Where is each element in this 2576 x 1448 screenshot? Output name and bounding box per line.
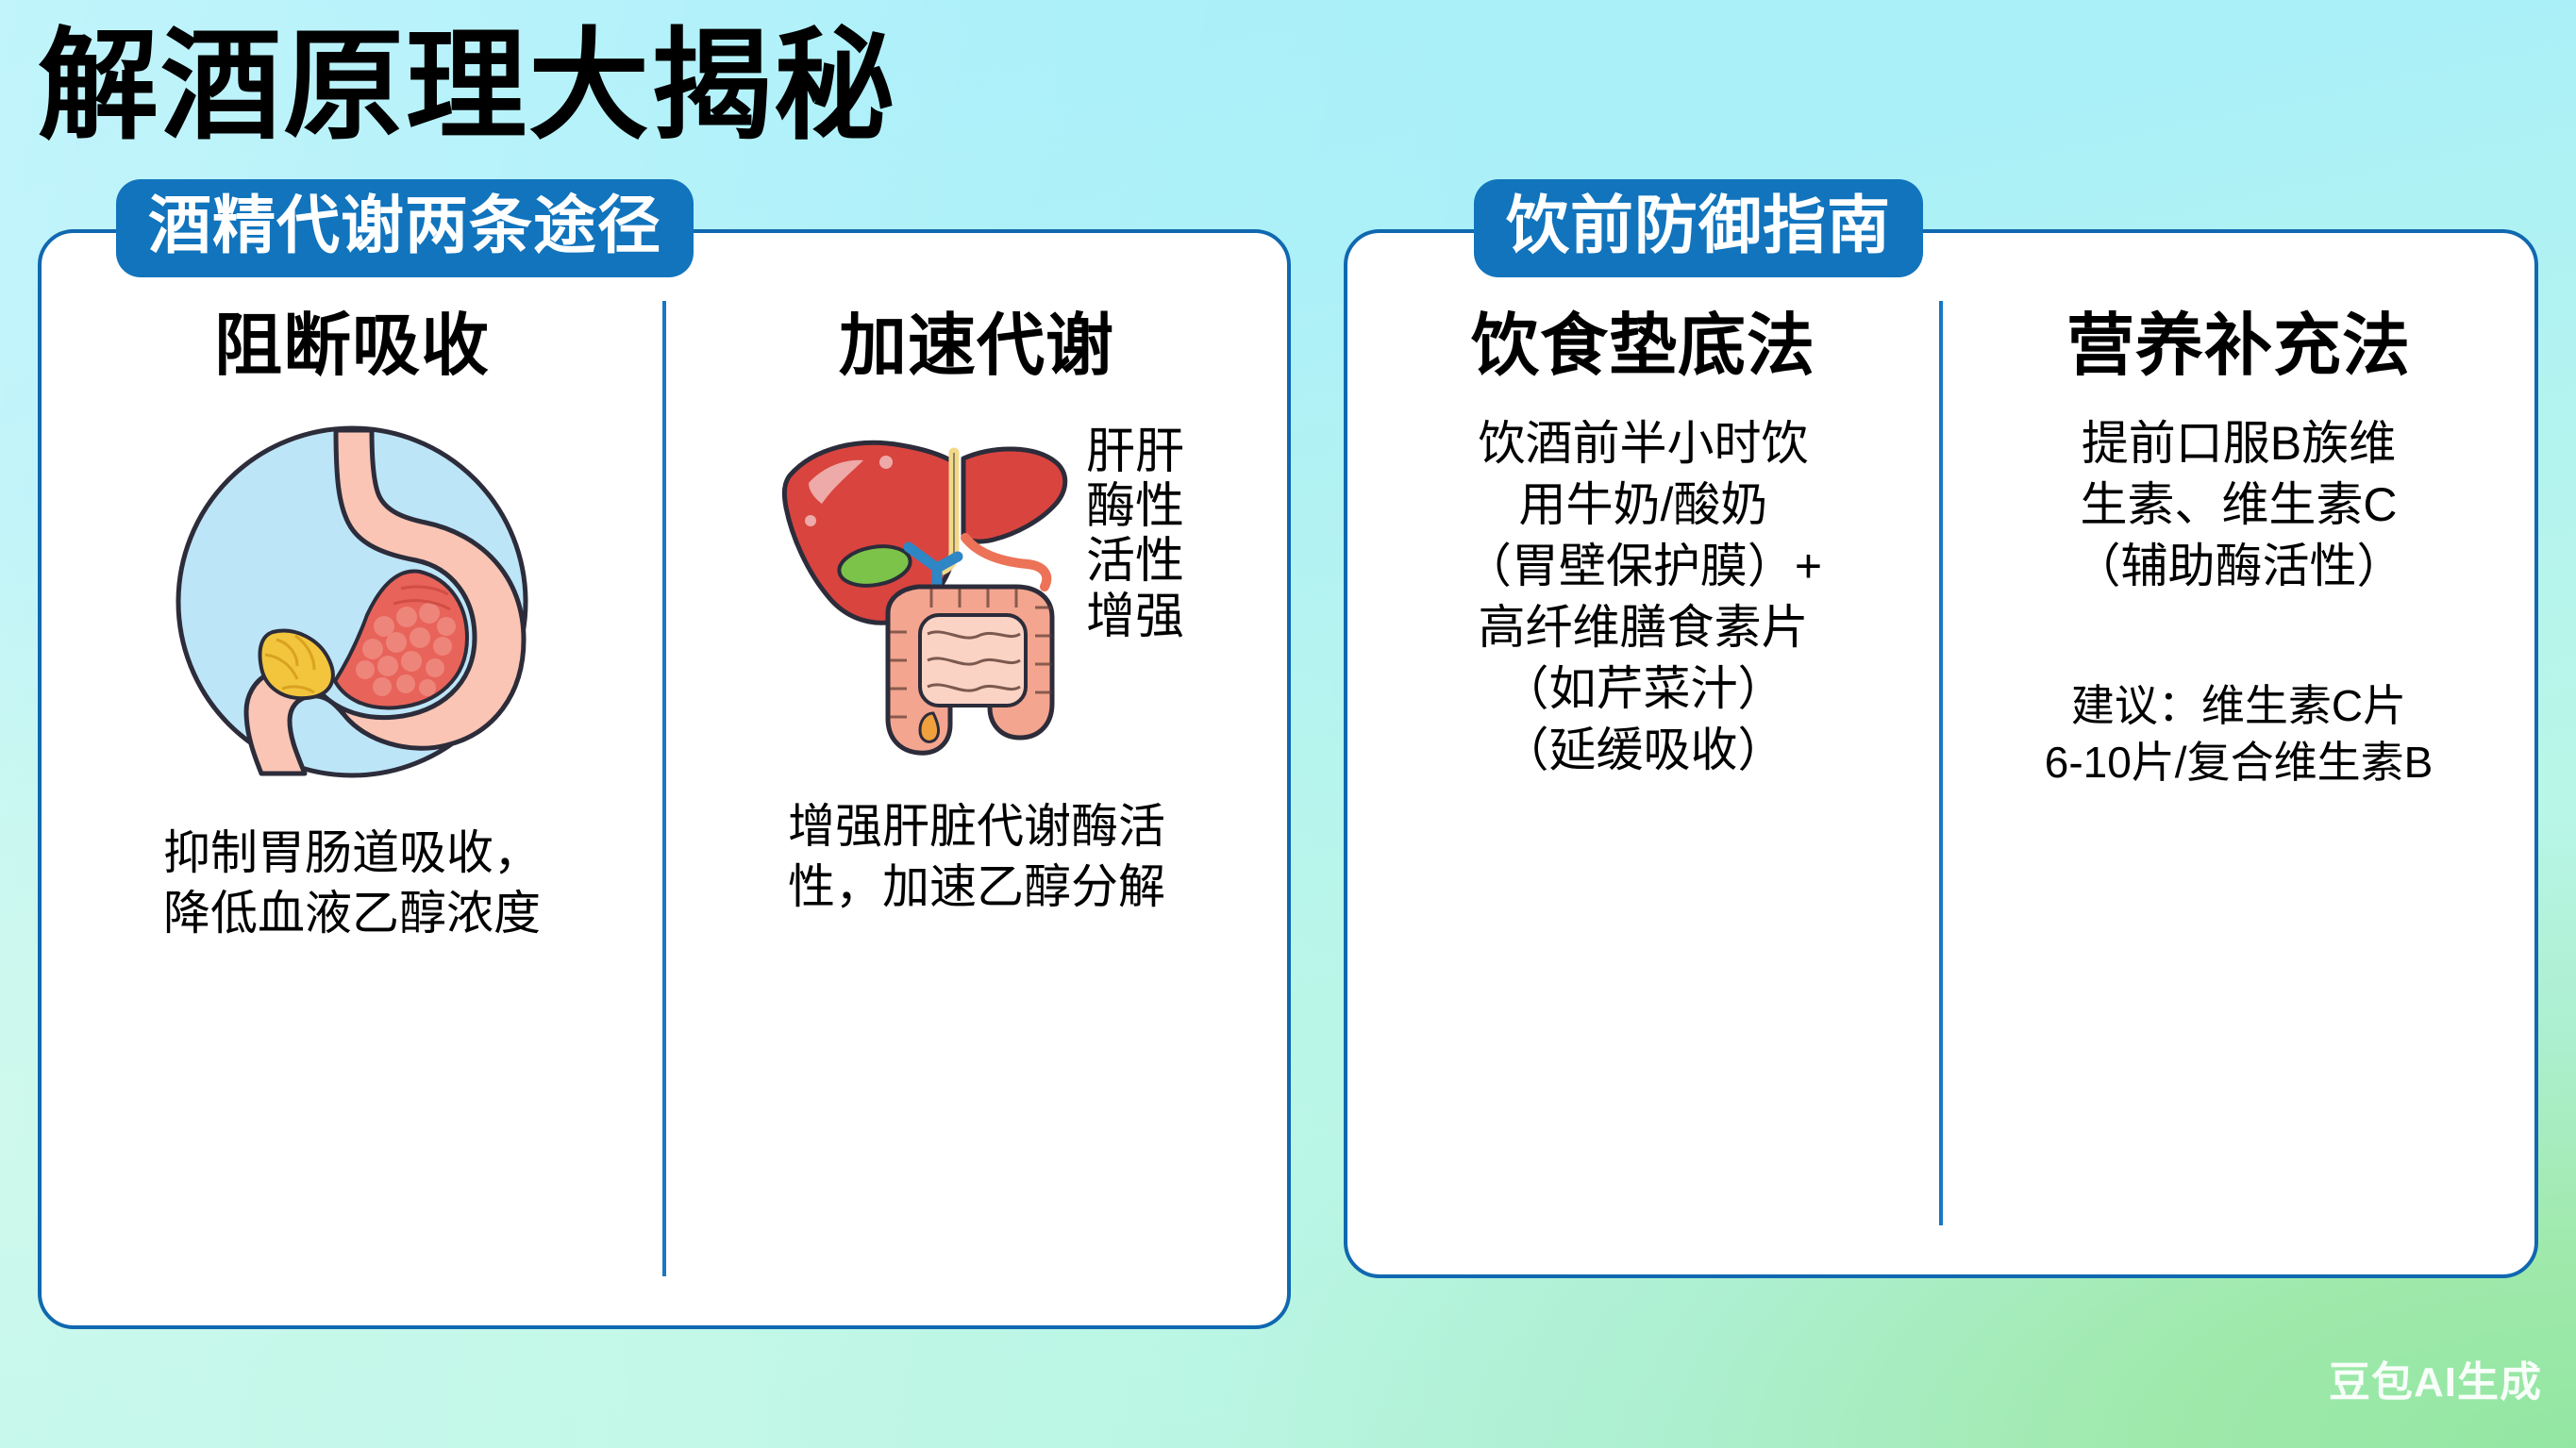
column-title-diet-base-method: 饮食垫底法 — [1471, 290, 1815, 389]
body-text-diet-base-method: 饮酒前半小时饮 用牛奶/酸奶 （胃壁保护膜）+ 高纤维膳食素片 （如芹菜汁） （… — [1447, 413, 1839, 781]
note-text-vitamin-dosage: 建议：维生素C片 6-10片/复合维生素B — [2037, 678, 2441, 791]
vertical-label-column-b: 肝 性 性 强 — [1135, 424, 1184, 644]
stomach-cross-section-icon — [163, 413, 541, 791]
body-text-nutrition-supplement-method: 提前口服B族维 生素、维生素C （辅助酶活性） — [2057, 413, 2421, 597]
figure-wrap-liver: 肝 酶 活 增 肝 性 性 强 — [666, 413, 1287, 764]
vertical-label-column-a: 肝 酶 活 增 — [1086, 424, 1135, 644]
figure-wrap-stomach — [42, 413, 662, 791]
vlabel-a-char-1: 酶 — [1086, 479, 1135, 534]
vlabel-a-char-0: 肝 — [1086, 424, 1135, 479]
column-accelerate-metabolism: 加速代谢 — [666, 233, 1287, 1325]
column-title-block-absorption: 阻断吸收 — [214, 290, 490, 389]
page-title: 解酒原理大揭秘 — [38, 17, 896, 156]
vlabel-b-char-0: 肝 — [1135, 424, 1184, 479]
column-title-nutrition-supplement-method: 营养补充法 — [2066, 290, 2411, 389]
card-pre-drinking-defense-guide: 饮前防御指南 饮食垫底法 饮酒前半小时饮 用牛奶/酸奶 （胃壁保护膜）+ 高纤维… — [1344, 229, 2538, 1278]
column-nutrition-supplement-method: 营养补充法 提前口服B族维 生素、维生素C （辅助酶活性） 建议：维生素C片 6… — [1943, 233, 2534, 1274]
card-alcohol-metabolism-pathways: 酒精代谢两条途径 阻断吸收 — [38, 229, 1291, 1329]
watermark-doubao-ai: 豆包AI生成 — [2329, 1348, 2542, 1408]
column-title-accelerate-metabolism: 加速代谢 — [839, 290, 1114, 389]
caption-block-absorption: 抑制胃肠道吸收， 降低血液乙醇浓度 — [163, 823, 541, 943]
vertical-label-liver-enzyme: 肝 酶 活 增 肝 性 性 强 — [1086, 424, 1184, 644]
vlabel-a-char-3: 增 — [1086, 590, 1135, 644]
vlabel-b-char-2: 性 — [1135, 534, 1184, 589]
column-block-absorption: 阻断吸收 — [42, 233, 662, 1325]
card-right-body: 饮食垫底法 饮酒前半小时饮 用牛奶/酸奶 （胃壁保护膜）+ 高纤维膳食素片 （如… — [1347, 233, 2534, 1274]
vlabel-b-char-3: 强 — [1135, 590, 1184, 644]
vlabel-a-char-2: 活 — [1086, 534, 1135, 589]
caption-accelerate-metabolism: 增强肝脏代谢酶活 性，加速乙醇分解 — [788, 796, 1165, 917]
card-left-body: 阻断吸收 — [42, 233, 1287, 1325]
liver-intestine-icon — [769, 413, 1080, 764]
vlabel-b-char-1: 性 — [1135, 479, 1184, 534]
column-diet-base-method: 饮食垫底法 饮酒前半小时饮 用牛奶/酸奶 （胃壁保护膜）+ 高纤维膳食素片 （如… — [1347, 233, 1939, 1274]
